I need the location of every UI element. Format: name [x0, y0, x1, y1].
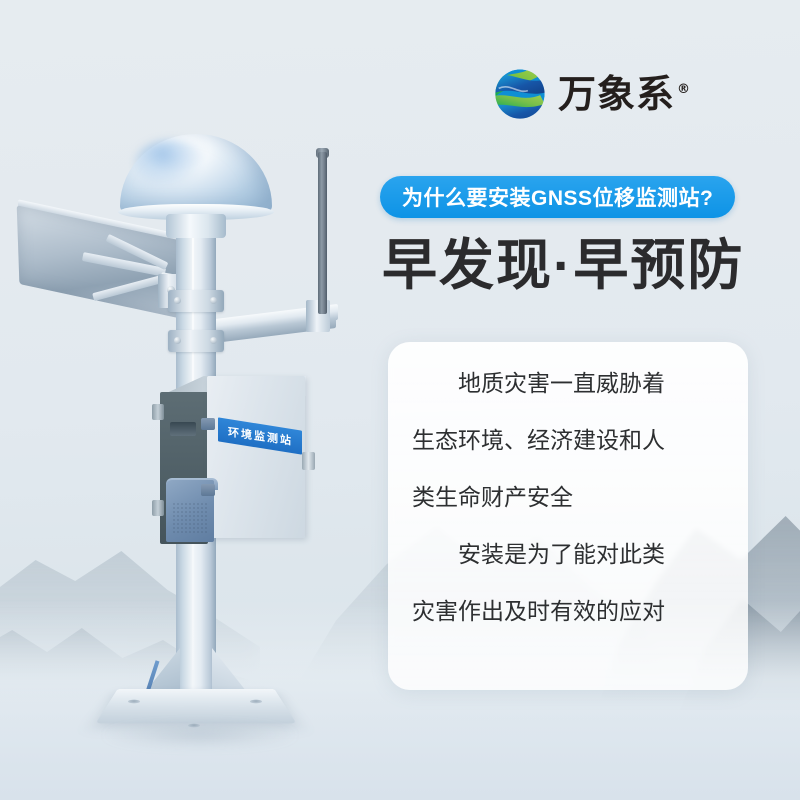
brand-name: 万象系: [558, 72, 675, 116]
description-line: 灾害作出及时有效的应对: [412, 600, 724, 623]
poster-canvas: 环境监测站: [0, 0, 800, 800]
poster-content: 万象系® 为什么要安装GNSS位移监测站? 早发现·早预防 地质灾害一直威胁着 …: [0, 0, 800, 800]
question-banner: 为什么要安装GNSS位移监测站?: [380, 176, 735, 218]
description-line: 生态环境、经济建设和人: [412, 429, 724, 452]
description-line: 类生命财产安全: [412, 486, 724, 509]
question-banner-text: 为什么要安装GNSS位移监测站?: [402, 182, 713, 212]
description-card: 地质灾害一直威胁着 生态环境、经济建设和人 类生命财产安全 安装是为了能对此类 …: [388, 342, 748, 690]
registered-trademark-icon: ®: [677, 82, 691, 97]
description-line: 地质灾害一直威胁着: [412, 372, 724, 395]
brand-name-text: 万象系®: [558, 75, 691, 113]
page-title: 早发现·早预防: [382, 236, 744, 295]
description-line: 安装是为了能对此类: [412, 543, 724, 566]
swirl-globe-icon: [492, 66, 548, 122]
brand-logo: 万象系®: [492, 66, 691, 122]
